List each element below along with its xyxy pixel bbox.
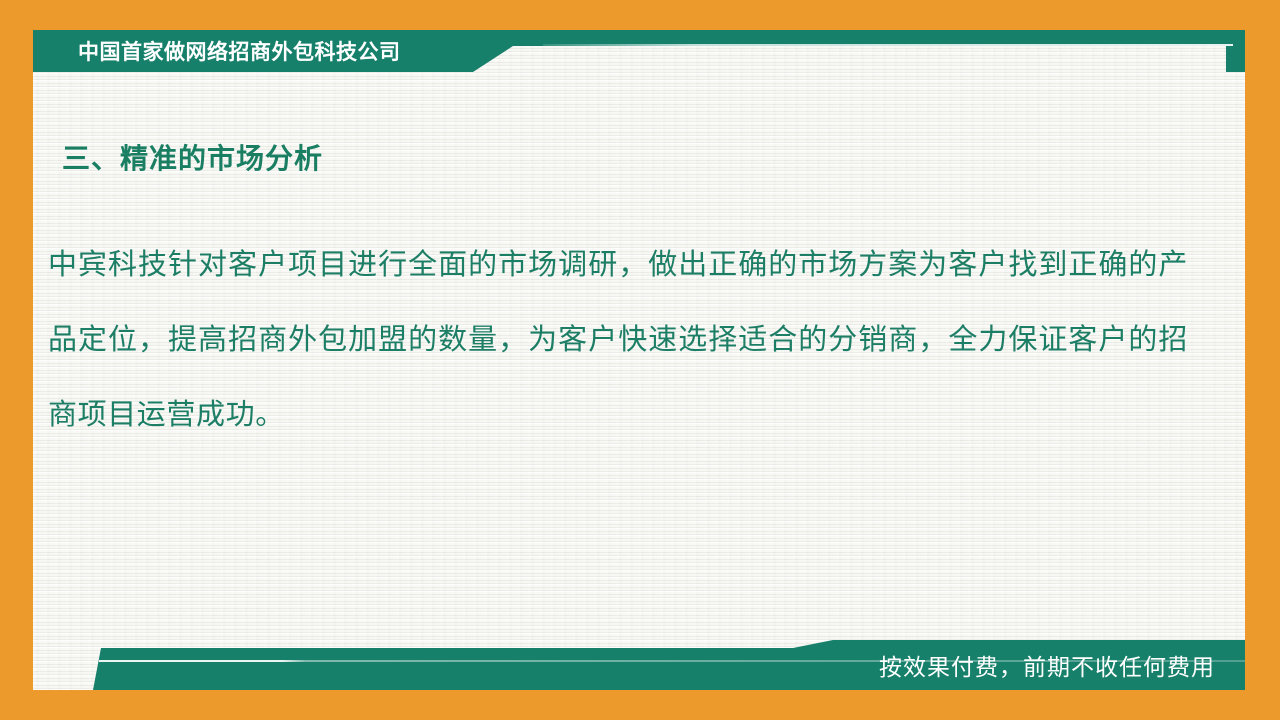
slide-header: 中国首家做网络招商外包科技公司 — [33, 30, 1245, 72]
header-divider-line — [543, 44, 1233, 46]
footer-slogan: 按效果付费，前期不收任何费用 — [879, 648, 1215, 682]
company-tagline: 中国首家做网络招商外包科技公司 — [78, 36, 401, 66]
body-paragraph: 中宾科技针对客户项目进行全面的市场调研，做出正确的市场方案为客户找到正确的产品定… — [48, 228, 1188, 453]
slide-footer: 按效果付费，前期不收任何费用 — [33, 640, 1245, 690]
presentation-slide: 中国首家做网络招商外包科技公司 三、精准的市场分析 中宾科技针对客户项目进行全面… — [0, 0, 1280, 720]
section-heading: 三、精准的市场分析 — [62, 137, 323, 177]
